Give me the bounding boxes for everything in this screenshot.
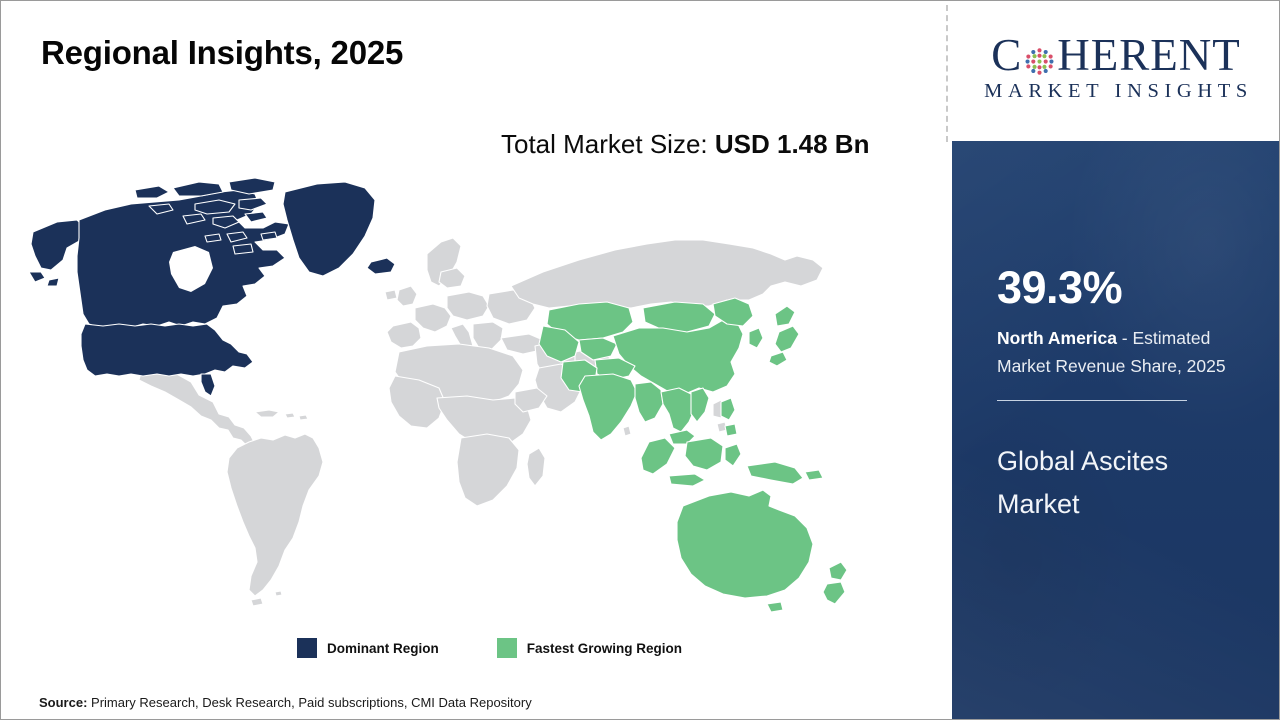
market-size-label: Total Market Size:	[501, 129, 715, 159]
legend-swatch-growth	[497, 638, 517, 658]
source-note: Source: Primary Research, Desk Research,…	[39, 695, 532, 710]
market-size-value: USD 1.48 Bn	[715, 129, 870, 159]
total-market-size: Total Market Size: USD 1.48 Bn	[501, 125, 901, 163]
logo-letter-c: C	[991, 34, 1022, 77]
stat-region-name: North America	[997, 328, 1117, 348]
map-legend: Dominant Region Fastest Growing Region	[297, 638, 682, 658]
map-region-growth	[539, 298, 847, 612]
brand-logo-box: C	[952, 2, 1280, 139]
world-map-svg	[23, 176, 853, 616]
legend-swatch-dominant	[297, 638, 317, 658]
market-name: Global Ascites Market	[997, 440, 1247, 527]
legend-label-dominant: Dominant Region	[327, 641, 439, 656]
page-title: Regional Insights, 2025	[41, 34, 403, 72]
map-region-dominant	[29, 178, 395, 396]
coherent-market-insights-logo: C	[968, 34, 1264, 102]
logo-word-herent: HERENT	[1057, 34, 1240, 77]
vertical-dashed-divider	[946, 5, 948, 142]
infographic-page: Regional Insights, 2025 Total Market Siz…	[0, 0, 1280, 720]
logo-wordmark: C	[991, 34, 1241, 77]
world-map	[23, 176, 853, 616]
source-label: Source:	[39, 695, 87, 710]
legend-item-growth: Fastest Growing Region	[497, 638, 682, 658]
legend-item-dominant: Dominant Region	[297, 638, 439, 658]
legend-label-growth: Fastest Growing Region	[527, 641, 682, 656]
stat-panel-content: 39.3% North America - Estimated Market R…	[997, 141, 1267, 527]
stat-percentage: 39.3%	[997, 265, 1267, 310]
globe-dots-icon	[1023, 42, 1056, 75]
logo-tagline: MARKET INSIGHTS	[979, 80, 1253, 103]
stat-description: North America - Estimated Market Revenue…	[997, 324, 1262, 381]
left-content-pane: Regional Insights, 2025 Total Market Siz…	[1, 1, 942, 720]
source-text: Primary Research, Desk Research, Paid su…	[87, 695, 531, 710]
stat-panel: 39.3% North America - Estimated Market R…	[952, 141, 1280, 720]
stat-divider	[997, 400, 1187, 401]
